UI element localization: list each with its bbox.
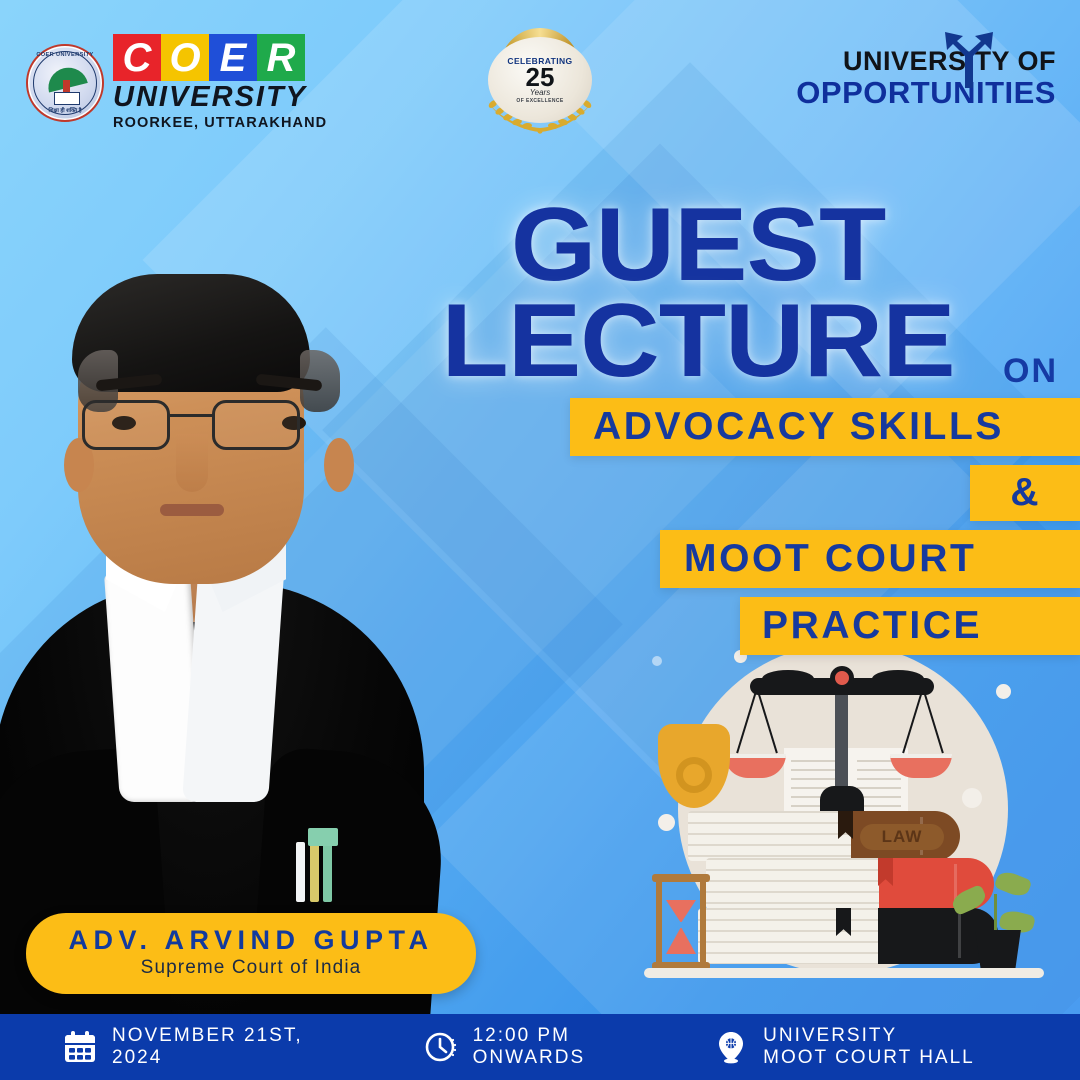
law-book-red — [706, 858, 994, 910]
topic-line-4: PRACTICE — [762, 604, 982, 648]
speaker-name: ADV. ARVIND GUPTA — [36, 926, 466, 954]
event-details-bar: NOVEMBER 21ST, 2024 12:00 PM ONWARDS — [0, 1014, 1080, 1080]
university-location: ROORKEE, UTTARAKHAND — [113, 115, 327, 131]
event-venue-line-2: MOOT COURT HALL — [763, 1047, 975, 1069]
forked-arrow-icon — [939, 26, 999, 88]
topic-line-3: MOOT COURT — [684, 537, 976, 581]
coer-letter-c: C — [113, 34, 161, 81]
topic-block: ADVOCACY SKILLS & MOOT COURT PRACTICE — [0, 398, 1080, 655]
poster-header: COER UNIVERSITY शिक्षा ही शक्ति है C O E… — [0, 0, 1080, 150]
crest-top-text: COER UNIVERSITY — [28, 52, 102, 58]
tagline-line-2: OPPORTUNITIES — [796, 77, 1056, 108]
clock-icon — [423, 1029, 459, 1065]
coer-letter-e: E — [209, 34, 257, 81]
topic-line-2: & — [1010, 471, 1039, 515]
university-word: UNIVERSITY — [113, 83, 327, 112]
speaker-name-badge: ADV. ARVIND GUPTA Supreme Court of India — [26, 913, 476, 994]
badge-years-text: Years — [530, 88, 550, 97]
event-venue-item: UNIVERSITY MOOT COURT HALL — [713, 1025, 975, 1070]
topic-bar-3: MOOT COURT — [660, 530, 1080, 588]
guest-lecture-poster: COER UNIVERSITY शिक्षा ही शक्ति है C O E… — [0, 0, 1080, 1080]
tagline-line-1: UNIVERSITY OF — [796, 48, 1056, 75]
page-title: GUEST LECTURE — [328, 198, 1068, 389]
event-venue-line-1: UNIVERSITY — [763, 1025, 975, 1047]
coer-letter-r: R — [257, 34, 305, 81]
on-label-text: ON — [1003, 352, 1058, 390]
law-book-brown: LAW — [688, 811, 960, 861]
main-title-text: GUEST LECTURE — [306, 198, 1080, 389]
crest-bottom-text: शिक्षा ही शक्ति है — [28, 106, 102, 114]
topic-bar-1: ADVOCACY SKILLS — [570, 398, 1080, 456]
calendar-icon — [62, 1029, 98, 1065]
coer-letter-o: O — [161, 34, 209, 81]
event-date-item: NOVEMBER 21ST, 2024 — [62, 1025, 303, 1070]
topic-bar-4: PRACTICE — [740, 597, 1080, 655]
event-time-line-1: 12:00 PM — [473, 1025, 586, 1047]
on-label: ON — [1003, 352, 1058, 391]
university-of-opportunities-logo: UNIVERSITY OF OPPORTUNITIES — [796, 48, 1056, 108]
law-illustration: LAW — [644, 636, 1044, 996]
university-crest-icon: COER UNIVERSITY शिक्षा ही शक्ति है — [26, 44, 104, 122]
event-time-item: 12:00 PM ONWARDS — [423, 1025, 586, 1070]
coer-letter-tiles: C O E R — [113, 34, 327, 81]
law-label: LAW — [860, 824, 944, 850]
law-book-black — [698, 908, 998, 964]
badge-excellence-text: OF EXCELLENCE — [516, 98, 563, 104]
location-pin-icon — [713, 1029, 749, 1065]
speaker-role: Supreme Court of India — [36, 957, 466, 979]
topic-bar-2: & — [970, 465, 1080, 521]
event-date-line-2: 2024 — [112, 1047, 303, 1069]
coer-university-logo: COER UNIVERSITY शिक्षा ही शक्ति है C O E… — [26, 34, 327, 131]
event-time-line-2: ONWARDS — [473, 1047, 586, 1069]
hourglass-icon — [652, 874, 710, 970]
badge-number: 25 — [526, 66, 555, 90]
anniversary-badge-icon: CELEBRATING 25 Years OF EXCELLENCE — [479, 28, 601, 132]
topic-line-1: ADVOCACY SKILLS — [593, 405, 1004, 449]
potted-plant-icon — [954, 868, 1040, 974]
event-date-line-1: NOVEMBER 21ST, — [112, 1025, 303, 1047]
